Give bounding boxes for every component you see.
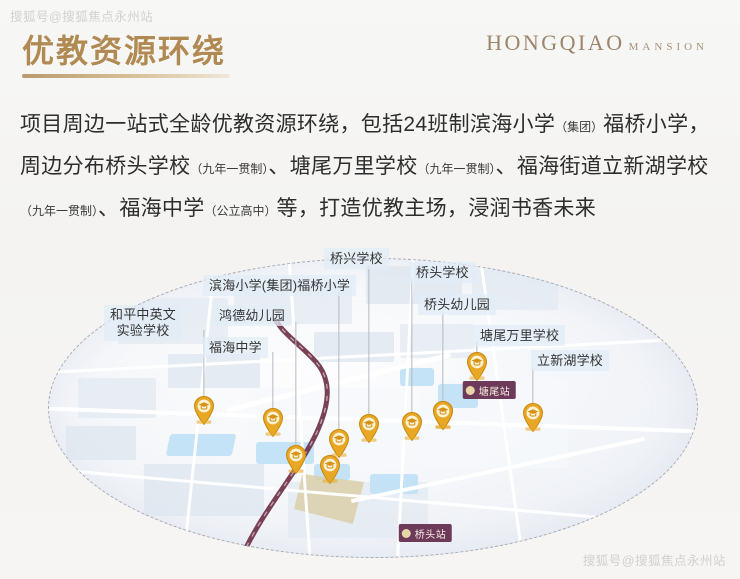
header: 优教资源环绕 HONGQIAO MANSION [0, 26, 740, 92]
paragraph-segment: （集团） [555, 120, 603, 134]
watermark-top: 搜狐号@搜狐焦点永州站 [10, 6, 153, 25]
poster-root: 搜狐号@搜狐焦点永州站 搜狐号@搜狐焦点永州站 优教资源环绕 HONGQIAO … [0, 0, 740, 579]
map-label-hongde: 鸿德幼儿园 [213, 305, 291, 326]
paragraph-segment: 、福海街道立新湖学校 [496, 155, 709, 178]
brand-name-secondary: MANSION [629, 41, 708, 53]
metro-station-qiaotou-station[interactable]: 桥头站 [399, 524, 452, 542]
map-label-line2: 实验学校 [117, 323, 170, 338]
label-leader-line [532, 367, 533, 404]
map-pin-icon[interactable] [193, 395, 215, 425]
map-label-qiaoxing: 桥兴学校 [324, 248, 389, 269]
map-pin-icon[interactable] [401, 411, 423, 441]
description-paragraph: 项目周边一站式全龄优教资源环绕，包括24班制滨海小学（集团）福桥小学，周边分布桥… [20, 105, 726, 231]
paragraph-segment: （九年一贯制） [20, 204, 98, 218]
paragraph-segment: 、塘尾万里学校 [268, 155, 417, 178]
label-leader-line [272, 352, 273, 409]
paragraph-segment: （公立高中） [205, 204, 277, 218]
paragraph-segment: 项目周边一站式全龄优教资源环绕，包括24班制滨海小学 [20, 113, 555, 136]
metro-station-icon [466, 386, 475, 395]
map-pin-icon[interactable] [432, 400, 454, 430]
label-leader-line [411, 279, 412, 413]
map-label-lixinhu: 立新湖学校 [531, 350, 609, 371]
paragraph-segment: 、福海中学 [98, 197, 205, 220]
map-pin-icon[interactable] [466, 351, 488, 381]
map-label-heping: 和平中英文实验学校 [104, 305, 182, 341]
map-label-line1: 和平中英文 [110, 307, 176, 322]
paragraph-segment: （九年一贯制） [418, 162, 496, 176]
map-label-qiaotou-y: 桥头幼儿园 [418, 294, 496, 315]
map-boundary-ellipse [48, 258, 698, 558]
metro-station-icon [402, 529, 411, 538]
map-pin-icon[interactable] [522, 402, 544, 432]
paragraph-segment: （九年一贯制） [190, 162, 268, 176]
paragraph-segment: 等，打造优教主场，浸润书香未来 [277, 197, 597, 220]
map-pin-icon[interactable] [358, 413, 380, 443]
metro-station-label: 塘尾站 [479, 383, 511, 398]
label-leader-line [442, 311, 443, 402]
brand-name-primary: HONGQIAO [486, 30, 625, 55]
metro-station-label: 桥头站 [415, 526, 447, 541]
map-pin-icon[interactable] [319, 454, 341, 484]
title-underline [22, 74, 230, 78]
brand-logo: HONGQIAO MANSION [486, 30, 708, 56]
map-label-tangwei: 塘尾万里学校 [474, 325, 565, 346]
map-label-binhai: 滨海小学(集团)福桥小学 [203, 275, 356, 296]
label-leader-line [368, 265, 369, 415]
map-label-qiaotou-x: 桥头学校 [410, 262, 475, 283]
map-pin-icon[interactable] [262, 407, 284, 437]
metro-station-tangwei-station[interactable]: 塘尾站 [463, 381, 516, 399]
map-area: 和平中英文实验学校 福海中学 鸿德幼儿园 滨海小学(集团)福桥小学 [0, 228, 740, 579]
page-title: 优教资源环绕 [22, 26, 226, 72]
map-pin-icon[interactable] [285, 444, 307, 474]
label-leader-line [295, 322, 296, 446]
map-label-fuhai-zx: 福海中学 [203, 337, 268, 358]
label-leader-line [338, 292, 339, 430]
